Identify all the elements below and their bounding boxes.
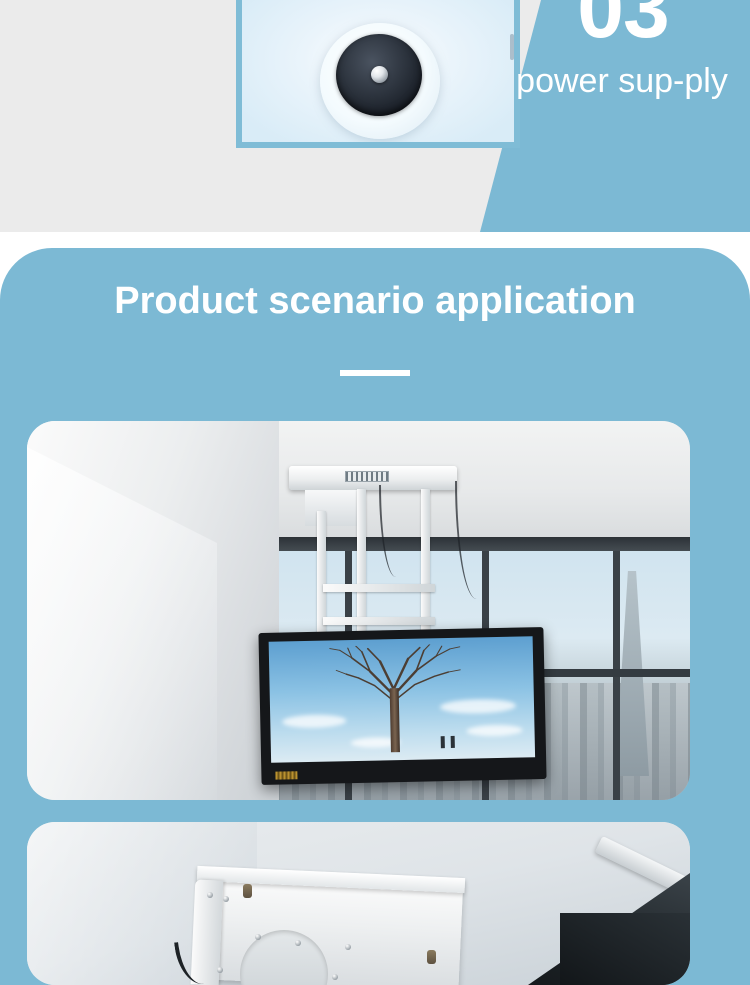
tv-label-sticker: [275, 771, 297, 779]
screw: [295, 940, 301, 946]
jack-center-pin: [371, 66, 388, 83]
tree-trunk: [390, 688, 400, 752]
feature-section: 03 power sup-ply: [0, 0, 750, 232]
pedestrian: [441, 736, 445, 748]
feature-label: power sup-ply: [514, 58, 730, 105]
pedestrian: [451, 736, 455, 748]
bolt: [427, 950, 436, 964]
feature-number: 03: [528, 0, 718, 50]
television: [258, 627, 546, 785]
lift-crossbar: [323, 584, 435, 592]
lift-arm: [357, 489, 366, 634]
scenario-image-1: [27, 421, 690, 800]
screw: [332, 974, 338, 980]
lift-arm: [421, 489, 430, 634]
title-underline: [340, 370, 410, 376]
lift-control-panel: [345, 471, 389, 482]
screw: [223, 896, 229, 902]
screw: [217, 967, 223, 973]
scenario-image-2: [27, 822, 690, 985]
page-root: 03 power sup-ply Product scenario applic…: [0, 0, 750, 985]
screw: [255, 934, 261, 940]
dc-power-jack-photo: [242, 0, 514, 142]
dark-ceiling-recess: [560, 913, 690, 985]
scenario-1-artwork: [27, 421, 690, 800]
product-scenario-panel: Product scenario application: [0, 248, 750, 985]
bolt: [243, 884, 252, 898]
panel-title: Product scenario application: [0, 278, 750, 325]
feature-photo-frame: [236, 0, 520, 148]
lift-arm: [317, 511, 326, 633]
jack-housing-nick: [510, 34, 514, 60]
cloud: [466, 724, 522, 736]
screw: [345, 944, 351, 950]
tv-screen: [269, 636, 535, 763]
scenario-2-artwork: [27, 822, 690, 985]
screw: [207, 892, 213, 898]
lift-mount-plate: [305, 490, 357, 526]
lift-crossbar: [323, 617, 435, 625]
